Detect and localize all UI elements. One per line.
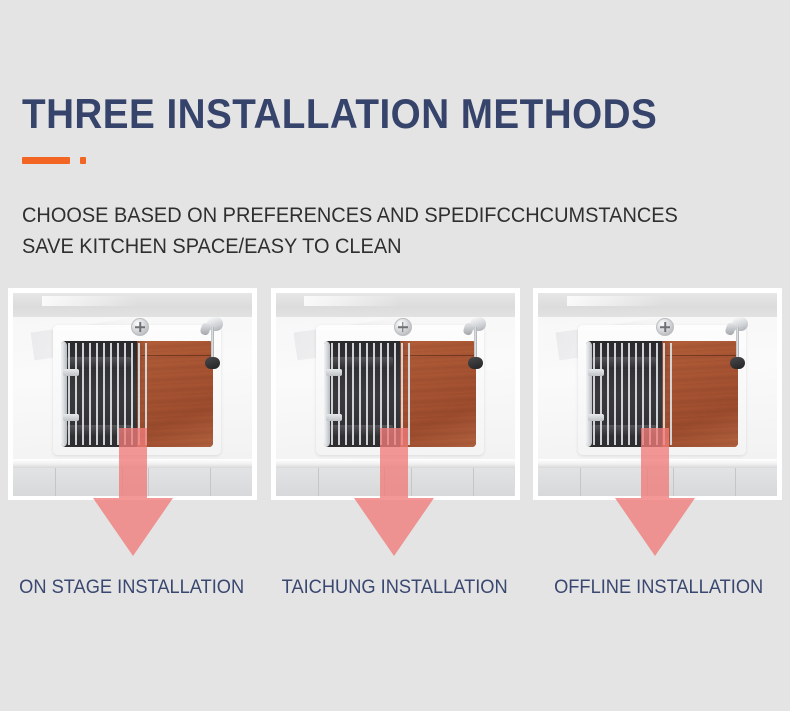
cabinet-door bbox=[56, 468, 123, 496]
backsplash bbox=[276, 293, 515, 317]
panel-caption-1: ON STAGE INSTALLATION bbox=[5, 575, 258, 601]
product-image-panels bbox=[8, 288, 782, 500]
rack-tab-bottom bbox=[63, 414, 79, 421]
cabinet-door bbox=[123, 468, 149, 496]
roll-up-drying-rack bbox=[586, 343, 673, 445]
cabinet-row bbox=[538, 468, 777, 496]
cabinet-door bbox=[211, 468, 252, 496]
drain-strainer-icon bbox=[394, 318, 412, 336]
sink-basin bbox=[61, 341, 213, 447]
product-panel-3[interactable] bbox=[533, 288, 782, 500]
page-title: THREE INSTALLATION METHODS bbox=[22, 88, 657, 140]
cabinet-door bbox=[276, 468, 319, 496]
rack-tab-top bbox=[326, 369, 342, 376]
faucet-spray-head bbox=[730, 357, 745, 369]
panel-captions: ON STAGE INSTALLATION TAICHUNG INSTALLAT… bbox=[0, 575, 790, 601]
sink-basin bbox=[586, 341, 738, 447]
faucet-arm bbox=[211, 327, 214, 361]
sink-body bbox=[578, 325, 746, 455]
sink-body bbox=[53, 325, 221, 455]
faucet-spray-head bbox=[468, 357, 483, 369]
title-accent-divider bbox=[22, 157, 102, 165]
cabinet-door bbox=[319, 468, 386, 496]
sink-illustration bbox=[13, 293, 252, 496]
promo-banner: THREE INSTALLATION METHODS CHOOSE BASED … bbox=[0, 0, 790, 711]
rack-tab-top bbox=[588, 369, 604, 376]
subtitle: CHOOSE BASED ON PREFERENCES AND SPEDIFCC… bbox=[22, 200, 678, 262]
sink-illustration bbox=[538, 293, 777, 496]
rack-tab-bottom bbox=[326, 414, 342, 421]
subtitle-line-1: CHOOSE BASED ON PREFERENCES AND SPEDIFCC… bbox=[22, 200, 678, 231]
cabinet-door bbox=[736, 468, 777, 496]
faucet-spray-head bbox=[205, 357, 220, 369]
faucet-neck bbox=[724, 322, 736, 336]
product-panel-1[interactable] bbox=[8, 288, 257, 500]
rack-rail-left bbox=[586, 341, 592, 447]
rack-rail-left bbox=[324, 341, 330, 447]
rack-tab-top bbox=[63, 369, 79, 376]
cabinet-door bbox=[385, 468, 411, 496]
rack-rail-left bbox=[61, 341, 67, 447]
drain-strainer-icon bbox=[656, 318, 674, 336]
faucet-arm bbox=[474, 327, 477, 361]
accent-bar bbox=[22, 157, 70, 164]
rack-tab-bottom bbox=[588, 414, 604, 421]
panel-caption-2: TAICHUNG INSTALLATION bbox=[269, 575, 522, 601]
cabinet-door bbox=[538, 468, 581, 496]
cabinet-door bbox=[581, 468, 648, 496]
cabinet-row bbox=[13, 468, 252, 496]
product-panel-2[interactable] bbox=[271, 288, 520, 500]
panel-caption-3: OFFLINE INSTALLATION bbox=[532, 575, 785, 601]
cabinet-door bbox=[474, 468, 515, 496]
drain-strainer-icon bbox=[131, 318, 149, 336]
roll-up-drying-rack bbox=[61, 343, 148, 445]
sink-basin bbox=[324, 341, 476, 447]
sink-body bbox=[316, 325, 484, 455]
faucet bbox=[199, 317, 229, 377]
sink-illustration bbox=[276, 293, 515, 496]
roll-up-drying-rack bbox=[324, 343, 411, 445]
cabinet-door bbox=[648, 468, 674, 496]
faucet-neck bbox=[462, 322, 474, 336]
cabinet-row bbox=[276, 468, 515, 496]
cabinet-door bbox=[412, 468, 474, 496]
faucet-neck bbox=[199, 322, 211, 336]
faucet bbox=[724, 317, 754, 377]
backsplash bbox=[538, 293, 777, 317]
cabinet-door bbox=[149, 468, 211, 496]
subtitle-line-2: SAVE KITCHEN SPACE/EASY TO CLEAN bbox=[22, 231, 678, 262]
faucet bbox=[462, 317, 492, 377]
cabinet-door bbox=[13, 468, 56, 496]
backsplash bbox=[13, 293, 252, 317]
accent-dot bbox=[80, 157, 86, 164]
cabinet-door bbox=[674, 468, 736, 496]
faucet-arm bbox=[736, 327, 739, 361]
